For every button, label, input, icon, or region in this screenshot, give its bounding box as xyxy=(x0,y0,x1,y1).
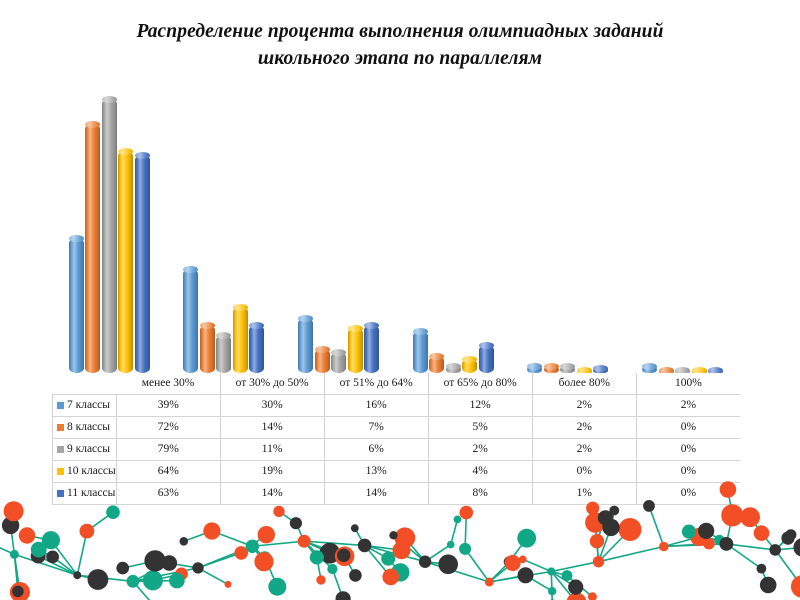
molecule-node xyxy=(659,542,669,552)
molecule-node xyxy=(504,555,520,571)
legend-item-label: 9 классы xyxy=(67,443,110,455)
molecule-decoration xyxy=(0,475,800,600)
molecule-node xyxy=(4,501,24,521)
table-cell: 2% xyxy=(532,417,636,439)
bar-group xyxy=(625,96,740,373)
chart-title-line-1: Распределение процента выполнения олимпи… xyxy=(60,18,740,45)
bar-group xyxy=(52,96,167,373)
bar-group xyxy=(396,96,511,373)
molecule-node xyxy=(757,564,767,574)
molecule-node xyxy=(619,518,642,541)
molecule-node xyxy=(643,500,655,512)
table-cell: 2% xyxy=(532,395,636,417)
molecule-node xyxy=(12,586,24,598)
molecule-node xyxy=(116,562,129,575)
table-cell: 12% xyxy=(428,395,532,417)
molecule-node xyxy=(389,531,397,539)
table-column-header: менее 30% xyxy=(116,373,220,395)
molecule-node xyxy=(781,532,794,545)
table-cell: 39% xyxy=(116,395,220,417)
molecule-node xyxy=(419,556,431,568)
legend-item: 7 классы xyxy=(53,395,117,417)
molecule-node xyxy=(258,526,275,543)
molecule-node xyxy=(454,516,462,524)
table-column-header: от 65% до 80% xyxy=(428,373,532,395)
molecule-node xyxy=(337,549,350,562)
molecule-node xyxy=(349,569,362,582)
table-row: 7 классы39%30%16%12%2%2% xyxy=(53,395,741,417)
molecule-node xyxy=(720,481,737,498)
table-cell: 0% xyxy=(636,439,740,461)
legend-item: 8 классы xyxy=(53,417,117,439)
legend-item-label: 8 классы xyxy=(67,421,110,433)
molecule-node xyxy=(382,569,399,586)
molecule-node xyxy=(517,529,536,548)
chart-title-line-2: школьного этапа по параллелям xyxy=(60,45,740,72)
molecule-bond xyxy=(133,568,198,581)
molecule-node xyxy=(609,506,619,516)
molecule-node xyxy=(395,527,416,548)
molecule-node xyxy=(754,525,770,541)
molecule-node xyxy=(682,525,696,539)
molecule-node xyxy=(42,531,60,549)
molecule-node xyxy=(80,524,95,539)
molecule-node xyxy=(290,517,302,529)
molecule-node xyxy=(10,550,19,559)
molecule-node xyxy=(447,541,455,549)
bar-chart-plot-area xyxy=(52,96,740,373)
legend-item: 9 классы xyxy=(53,439,117,461)
molecule-node xyxy=(246,540,259,553)
molecule-node xyxy=(225,581,232,588)
molecule-node xyxy=(586,502,599,515)
table-corner-cell xyxy=(53,373,117,395)
legend-swatch-icon xyxy=(57,402,64,409)
table-cell: 2% xyxy=(532,439,636,461)
molecule-node xyxy=(351,524,359,532)
molecule-node xyxy=(106,505,120,519)
molecule-node xyxy=(192,562,203,573)
table-cell: 5% xyxy=(428,417,532,439)
molecule-node xyxy=(143,570,163,590)
molecule-node xyxy=(459,543,471,555)
molecule-node xyxy=(180,537,189,546)
table-column-header: от 51% до 64% xyxy=(324,373,428,395)
table-row: 9 классы79%11%6%2%2%0% xyxy=(53,439,741,461)
table-cell: 6% xyxy=(324,439,428,461)
molecule-node xyxy=(336,591,351,600)
table-column-header: более 80% xyxy=(532,373,636,395)
molecule-bond xyxy=(451,519,458,544)
molecule-node xyxy=(381,552,395,566)
molecule-node xyxy=(268,578,286,596)
legend-swatch-icon xyxy=(57,424,64,431)
table-cell: 2% xyxy=(636,395,740,417)
molecule-node xyxy=(720,537,734,551)
table-cell: 72% xyxy=(116,417,220,439)
molecule-node xyxy=(254,552,273,571)
molecule-node xyxy=(593,556,604,567)
table-header-row: менее 30%от 30% до 50%от 51% до 64%от 65… xyxy=(53,373,741,395)
bar-group xyxy=(167,96,282,373)
molecule-node xyxy=(126,575,139,588)
table-header: менее 30%от 30% до 50%от 51% до 64%от 65… xyxy=(53,373,741,395)
table-cell: 14% xyxy=(220,417,324,439)
molecule-node xyxy=(273,506,284,517)
molecule-node xyxy=(358,539,372,553)
table-column-header: 100% xyxy=(636,373,740,395)
table-cell: 11% xyxy=(220,439,324,461)
molecule-bond xyxy=(551,562,598,572)
table-cell: 0% xyxy=(636,417,740,439)
molecule-node xyxy=(144,550,165,571)
molecule-node xyxy=(519,556,527,564)
legend-swatch-icon xyxy=(57,468,64,475)
table-cell: 7% xyxy=(324,417,428,439)
molecule-node xyxy=(568,580,583,595)
molecule-node xyxy=(460,506,474,520)
molecule-node xyxy=(760,577,777,594)
table-cell: 16% xyxy=(324,395,428,417)
molecule-node xyxy=(316,575,325,584)
molecule-node xyxy=(740,507,760,527)
molecule-node xyxy=(310,550,324,564)
page-title: Распределение процента выполнения олимпи… xyxy=(60,18,740,72)
molecule-bond xyxy=(14,554,77,575)
molecule-node xyxy=(88,569,109,590)
molecule-node xyxy=(438,555,458,575)
table-column-header: от 30% до 50% xyxy=(220,373,324,395)
molecule-node xyxy=(19,527,35,543)
molecule-node xyxy=(73,571,81,579)
table-row: 8 классы72%14%7%5%2%0% xyxy=(53,417,741,439)
molecule-node xyxy=(169,573,185,589)
molecule-node xyxy=(791,575,800,597)
molecule-node xyxy=(518,567,534,583)
molecule-node xyxy=(203,522,220,539)
table-cell: 2% xyxy=(428,439,532,461)
legend-swatch-icon xyxy=(57,446,64,453)
molecule-node xyxy=(793,538,800,557)
molecule-bond xyxy=(599,547,664,562)
molecule-node xyxy=(547,567,555,575)
molecule-node xyxy=(485,578,494,587)
table-cell: 79% xyxy=(116,439,220,461)
molecule-node xyxy=(602,519,619,536)
bar-group xyxy=(511,96,626,373)
molecule-node xyxy=(298,535,311,548)
molecule-bond xyxy=(252,541,304,546)
molecule-node xyxy=(721,504,743,526)
molecule-node xyxy=(698,523,714,539)
molecule-bond xyxy=(551,572,552,600)
molecule-bond xyxy=(465,549,489,582)
legend-item-label: 7 классы xyxy=(67,399,110,411)
table-cell: 30% xyxy=(220,395,324,417)
molecule-node xyxy=(46,551,59,564)
bar-group xyxy=(281,96,396,373)
molecule-node xyxy=(562,570,573,581)
molecule-node xyxy=(327,564,337,574)
molecule-node xyxy=(548,587,556,595)
molecule-bond xyxy=(649,506,664,547)
molecule-node xyxy=(769,544,781,556)
molecule-node xyxy=(590,534,604,548)
